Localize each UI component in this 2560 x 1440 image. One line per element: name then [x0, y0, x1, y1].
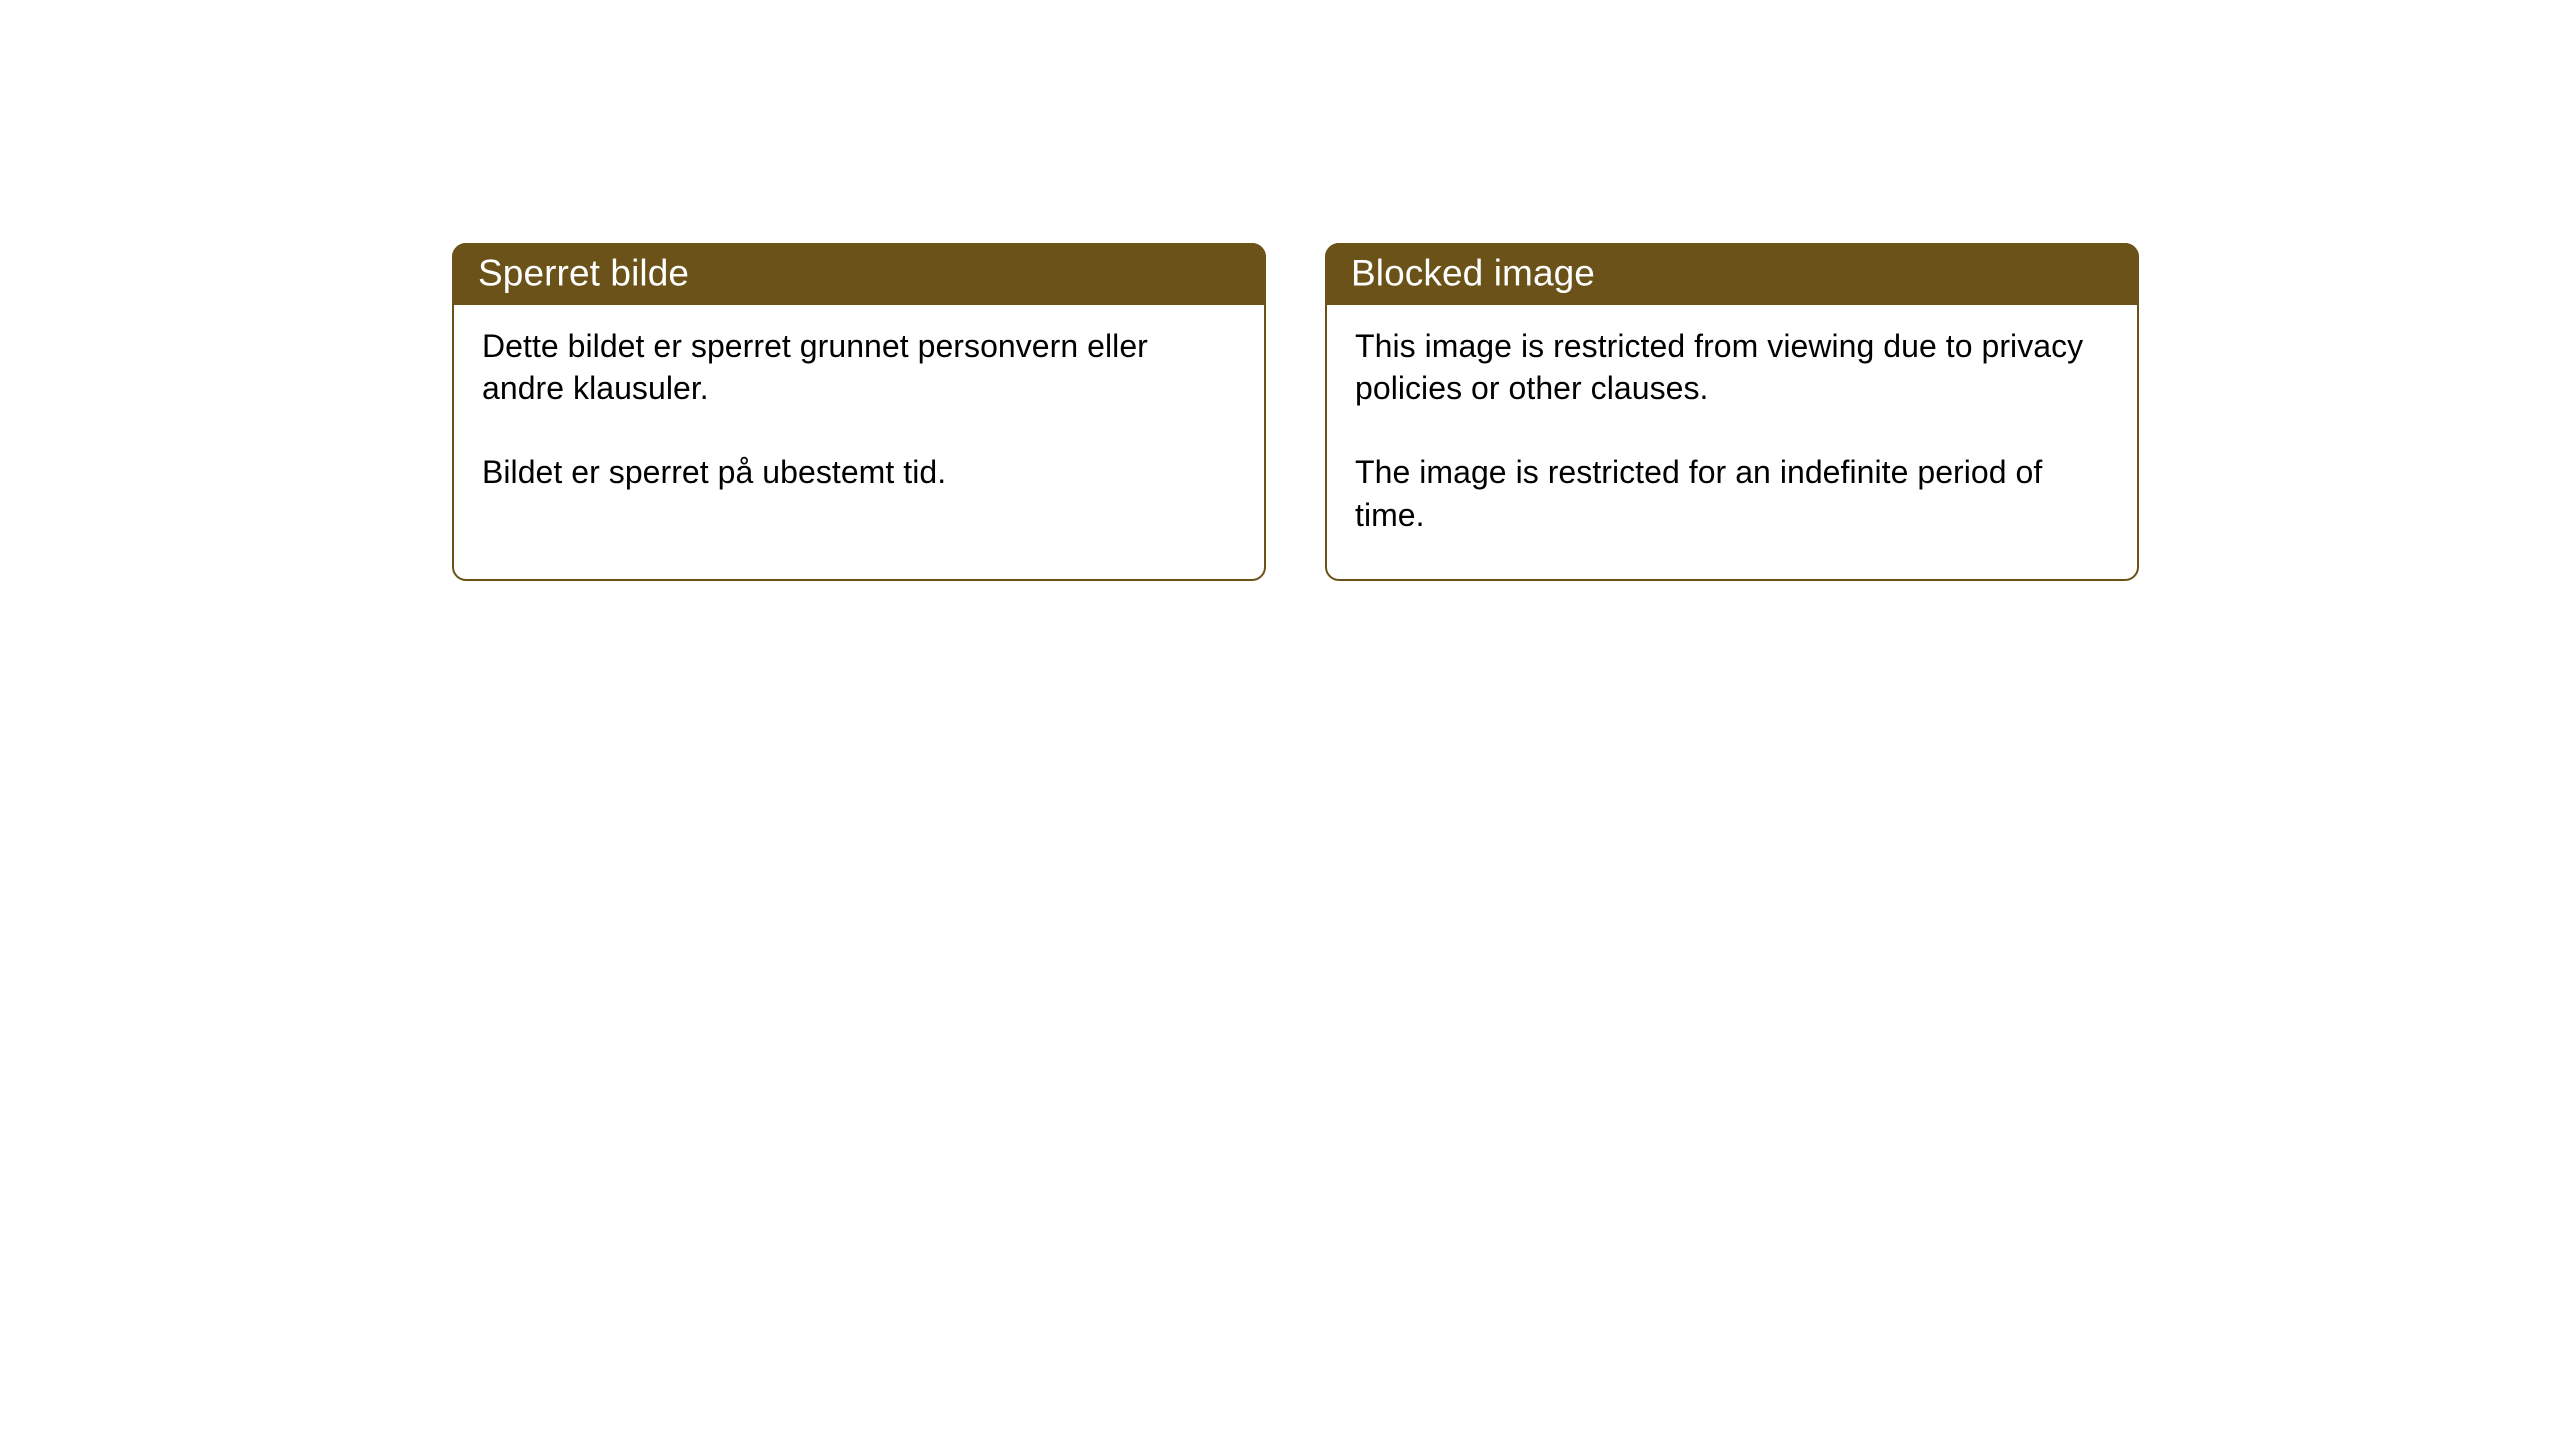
card-body-english: This image is restricted from viewing du… — [1327, 307, 2137, 536]
card-paragraph-primary-english: This image is restricted from viewing du… — [1355, 325, 2095, 409]
card-header-english: Blocked image — [1325, 243, 2139, 305]
card-paragraph-secondary-english: The image is restricted for an indefinit… — [1355, 451, 2095, 535]
card-paragraph-secondary-norwegian: Bildet er sperret på ubestemt tid. — [482, 451, 1222, 493]
card-header-norwegian: Sperret bilde — [452, 243, 1266, 305]
card-body-norwegian: Dette bildet er sperret grunnet personve… — [454, 307, 1264, 494]
blocked-image-card-english: Blocked image This image is restricted f… — [1325, 243, 2139, 581]
blocked-image-notice-area: Sperret bilde Dette bildet er sperret gr… — [0, 0, 2560, 1440]
card-paragraph-primary-norwegian: Dette bildet er sperret grunnet personve… — [482, 325, 1222, 409]
card-title-english: Blocked image — [1351, 254, 1595, 295]
blocked-image-card-norwegian: Sperret bilde Dette bildet er sperret gr… — [452, 243, 1266, 581]
card-title-norwegian: Sperret bilde — [478, 254, 689, 295]
